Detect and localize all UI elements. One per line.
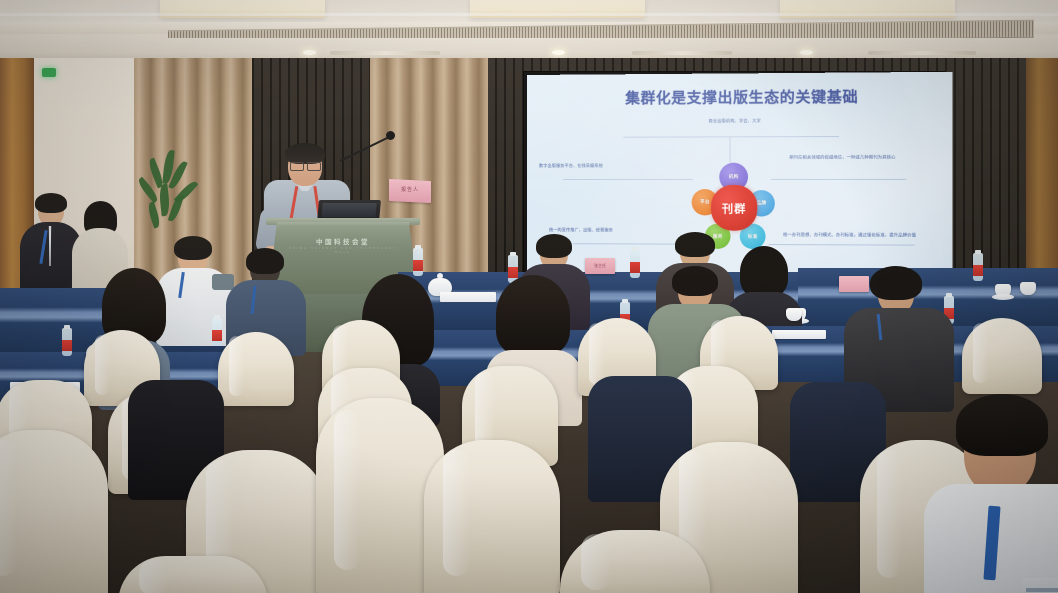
water-bottle — [630, 250, 640, 278]
teacup — [1020, 282, 1036, 295]
connector-line — [623, 136, 839, 138]
water-bottle — [973, 253, 983, 281]
name-placard-label: 张主任 — [585, 263, 615, 269]
microphone-icon — [386, 131, 395, 140]
annotation-right-lower: 统一办刊思想、办刊模式、办刊标准，通过强化标准，提升品牌价值 — [783, 232, 938, 239]
bottle-cap — [622, 299, 628, 303]
water-bottle — [62, 328, 72, 356]
bottle-cap — [946, 293, 952, 297]
conference-room-photo: 集群化是支撑出版生态的关键基础 商业出版机构、学会、大学 数字出版服务平台、在线… — [0, 0, 1058, 593]
connector-line — [769, 244, 915, 246]
water-bottle — [413, 248, 423, 276]
annotation-left-upper: 数字出版服务平台、在线采编系统 — [539, 163, 660, 170]
camera — [212, 274, 234, 290]
chair — [962, 318, 1042, 394]
bottle-cap — [415, 245, 421, 249]
bottle-cap — [975, 250, 981, 254]
teacup — [786, 308, 802, 321]
document-sheet — [440, 292, 496, 302]
ceiling — [0, 0, 1058, 62]
bottle-cap — [632, 247, 638, 251]
speaker-nameplate-label: 报告人 — [389, 186, 431, 193]
downlight — [552, 50, 565, 55]
downlight — [303, 50, 316, 55]
diagram-center-node: 刊群 — [711, 185, 757, 231]
bottle-cap — [510, 252, 516, 256]
exit-sign-icon — [42, 68, 56, 77]
annotation-right-upper: 期刊在相关领域的权威地位，一种或几种期刊为其核心 — [789, 154, 933, 161]
slide-title: 集群化是支撑出版生态的关键基础 — [553, 85, 934, 109]
chair-foreground — [424, 440, 560, 593]
water-bottle — [212, 318, 222, 346]
bottle-cap — [64, 325, 70, 329]
bottle-cap — [214, 315, 220, 319]
ceiling-ridge — [0, 13, 1058, 16]
laptop-screen — [321, 203, 376, 217]
connector-line — [771, 179, 907, 180]
slot-light — [330, 51, 440, 55]
speaker-hair — [285, 143, 325, 164]
glasses-icon — [290, 162, 321, 169]
chair — [218, 332, 294, 406]
downlight — [800, 50, 813, 55]
slot-light — [868, 51, 976, 55]
saucer — [992, 294, 1014, 300]
chair-foreground — [0, 430, 108, 593]
venue-name-on-podium: 中国科技会堂 — [288, 236, 398, 246]
name-placard — [839, 276, 869, 292]
document-sheet — [772, 330, 826, 339]
venue-name-pinyin: CHINA SCIENCE AND TECHNOLOGY HALL — [288, 246, 398, 254]
annotation-top: 商业出版机构、学会、大学 — [638, 118, 833, 125]
connector-line — [730, 136, 731, 162]
connector-line — [563, 179, 693, 180]
annotation-left-lower: 统一的宣传推广、出版、经营服务 — [549, 227, 680, 234]
slot-light — [632, 51, 732, 55]
